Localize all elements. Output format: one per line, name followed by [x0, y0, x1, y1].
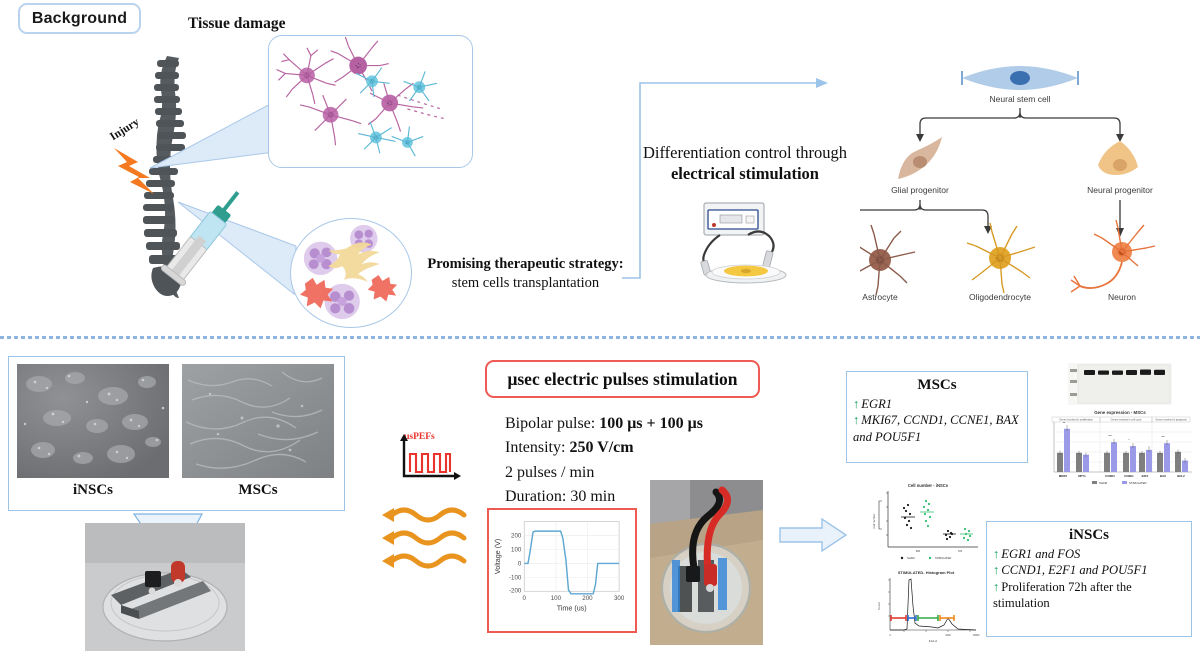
up-arrow-icon: ↑ — [853, 413, 859, 427]
gene-expression-bar-chart: Gene expression - MSCs Genes involved in… — [1044, 408, 1196, 486]
param-row: Bipolar pulse: 100 μs + 100 μs — [505, 412, 765, 436]
svg-text:STIMULATED- Histogram Plot: STIMULATED- Histogram Plot — [898, 570, 955, 575]
svg-text:NPY1: NPY1 — [1078, 474, 1086, 478]
svg-text:200: 200 — [582, 595, 593, 602]
section-divider — [0, 336, 1200, 339]
svg-text:72h: 72h — [958, 549, 963, 553]
svg-text:100: 100 — [551, 595, 562, 602]
results-title-inscs: iNSCs — [987, 527, 1191, 544]
svg-text:-200: -200 — [509, 587, 522, 594]
micrograph-caption-msc: MSCs — [182, 482, 334, 499]
flow-arrow-to-results — [778, 516, 848, 554]
stimulated-histogram-chart: STIMULATED- Histogram Plot Count FL2-A 0… — [866, 566, 982, 650]
up-arrow-icon: ↑ — [993, 547, 999, 561]
differentiation-lineage-tree: Neural stem cell Glial progenitor Neural… — [860, 60, 1190, 305]
svg-text:-100: -100 — [509, 574, 522, 581]
svg-text:Neural progenitor: Neural progenitor — [1087, 185, 1153, 195]
svg-text:Genes involved in apoptosis: Genes involved in apoptosis — [1155, 419, 1187, 422]
svg-text:Time (us): Time (us) — [557, 605, 587, 613]
svg-text:Oligodendrocyte: Oligodendrocyte — [969, 292, 1031, 302]
svg-text:10000: 10000 — [973, 634, 980, 637]
svg-text:Glial progenitor: Glial progenitor — [891, 185, 949, 195]
svg-text:Voltage (V): Voltage (V) — [494, 539, 502, 574]
tissue-damage-label: Tissue damage — [188, 15, 285, 33]
svg-text:STIMULATED: STIMULATED — [1129, 481, 1147, 485]
svg-text:1000: 1000 — [945, 634, 951, 637]
svg-text:Neural stem cell: Neural stem cell — [990, 94, 1051, 104]
results-line: ↑CCND1, E2F1 and POU5F1 — [987, 562, 1191, 578]
svg-text:Neuron: Neuron — [1108, 292, 1136, 302]
energy-wave-arrows-icon — [380, 505, 480, 575]
svg-text:E2F1: E2F1 — [1142, 474, 1149, 478]
pulse-train-icon — [398, 432, 462, 484]
svg-text:Count: Count — [877, 602, 881, 610]
results-line: ↑EGR1 — [847, 396, 1027, 412]
svg-text:CCNE1: CCNE1 — [1124, 474, 1134, 478]
svg-text:48h: 48h — [916, 549, 921, 553]
tissue-damage-callout — [268, 35, 473, 168]
svg-text:0: 0 — [518, 560, 522, 567]
up-arrow-icon: ↑ — [853, 397, 859, 411]
stimulation-title-box: μsec electric pulses stimulation — [485, 360, 760, 398]
promising-line-1: Promising therapeutic strategy: — [418, 255, 633, 274]
gel-blot-image — [1068, 363, 1172, 405]
svg-text:Gene expression - MSCs: Gene expression - MSCs — [1094, 410, 1146, 415]
micrograph-caption-insc: iNSCs — [17, 482, 169, 499]
promising-line-2: stem cells transplantation — [418, 274, 633, 293]
up-arrow-icon: ↑ — [993, 580, 999, 594]
svg-text:Astrocyte: Astrocyte — [862, 292, 898, 302]
svg-text:0: 0 — [523, 595, 527, 602]
background-tag: Background — [18, 3, 141, 34]
svg-text:Genes involved in cell cycle: Genes involved in cell cycle — [1111, 419, 1142, 422]
svg-text:BCL2: BCL2 — [1177, 474, 1185, 478]
svg-text:STIMULATED: STIMULATED — [935, 556, 951, 560]
results-box-inscs: iNSCs ↑EGR1 and FOS ↑CCND1, E2F1 and POU… — [986, 521, 1192, 637]
micrograph-panel: iNSCs MSCs — [8, 356, 345, 511]
svg-text:BAX: BAX — [1160, 474, 1166, 478]
flow-arrow-to-lineage — [620, 68, 845, 283]
micrograph-msc — [182, 364, 334, 478]
results-line: ↑MKI67, CCND1, CCNE1, BAX and POU5F1 — [847, 412, 1027, 445]
svg-text:FL2-A: FL2-A — [929, 639, 937, 643]
param-row: Intensity: 250 V/cm — [505, 436, 765, 460]
cell-number-scatter-chart: Cell number - iNSCs Cell number — [866, 481, 982, 563]
svg-text:CCND1: CCND1 — [1105, 474, 1115, 478]
svg-text:Cell number - iNSCs: Cell number - iNSCs — [908, 483, 949, 488]
svg-text:300: 300 — [614, 595, 625, 602]
results-title-mscs: MSCs — [847, 377, 1027, 394]
svg-text:SHAM: SHAM — [1099, 481, 1108, 485]
svg-text:Cell number: Cell number — [872, 513, 876, 528]
stem-cells-callout — [290, 218, 412, 328]
svg-text:SHAM: SHAM — [907, 556, 915, 560]
micrograph-insc — [17, 364, 169, 478]
electrode-dish-photo-center — [650, 480, 763, 645]
syringe-illustration — [152, 180, 257, 305]
svg-text:MKI67: MKI67 — [1059, 474, 1068, 478]
electrode-dish-photo-left — [85, 523, 245, 651]
results-line: ↑EGR1 and FOS — [987, 546, 1191, 562]
voltage-waveform-chart: 200 100 0 -100 -200 0 100 200 300 Time (… — [487, 508, 637, 633]
callout-wedge-tissue — [148, 100, 278, 175]
promising-strategy-text: Promising therapeutic strategy: stem cel… — [418, 255, 633, 293]
svg-text:200: 200 — [511, 533, 522, 540]
svg-text:100: 100 — [511, 547, 522, 554]
graphical-abstract: Background Tissue damage — [0, 0, 1200, 669]
results-box-mscs: MSCs ↑EGR1 ↑MKI67, CCND1, CCNE1, BAX and… — [846, 371, 1028, 463]
up-arrow-icon: ↑ — [993, 563, 999, 577]
results-line: ↑Proliferation 72h after the stimulation — [987, 579, 1191, 612]
